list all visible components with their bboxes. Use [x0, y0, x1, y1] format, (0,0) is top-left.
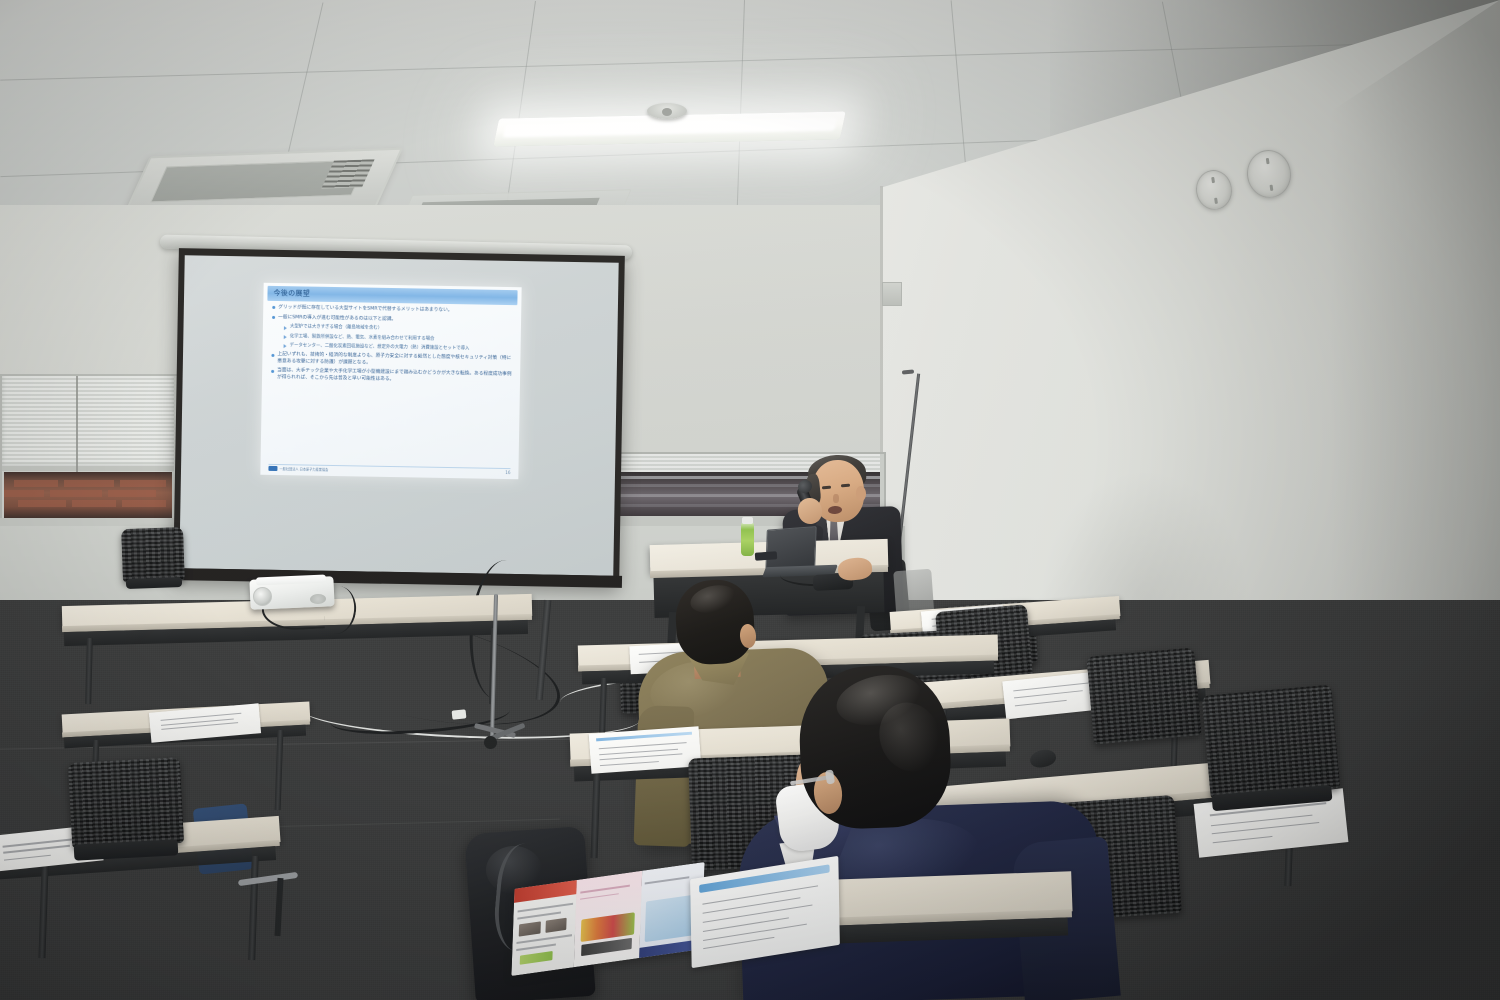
presenter-eye — [822, 486, 831, 490]
handout-document[interactable] — [589, 726, 702, 774]
left-window-blinds[interactable] — [2, 376, 174, 468]
slide-page-number: 16 — [505, 470, 510, 475]
slide-footer: 一般社団法人 日本原子力産業協会 16 — [268, 463, 510, 475]
projected-slide: 今後の展望 グリッドが既に存在している大型サイトをSMRで代替するメリットはあま… — [260, 283, 521, 479]
bullet-marker-icon — [271, 370, 274, 373]
slide-bullet: 当面は、大手テック企業や大手化学工場が小型機建設にまで踏み込むかどうかが大きな転… — [271, 368, 513, 385]
smoke-detector-sensor — [662, 108, 672, 116]
arrow-marker-icon — [284, 344, 287, 348]
bottle-cap[interactable] — [742, 517, 753, 524]
brochure-panel-center — [574, 871, 642, 967]
wall-junction-box — [882, 282, 902, 306]
slide-bullet: 化学工場、製鉄所併設など、熱、電気、水素を組み合わせて利用する場合 — [272, 334, 514, 344]
slide-bullet: グリッドが既に存在している大型サイトをSMRで代替するメリットはあまりない。 — [272, 305, 514, 316]
chair[interactable] — [1086, 647, 1201, 744]
chair[interactable] — [1202, 685, 1341, 800]
slide-footer-logo: 一般社団法人 日本原子力産業協会 — [268, 466, 328, 472]
left-window-blind-cord[interactable] — [76, 376, 78, 472]
slide-bullet: 大型炉では大きすぎる場合（離島地域を含む） — [272, 324, 514, 334]
chair[interactable] — [68, 757, 184, 849]
presenter-nose — [833, 494, 839, 503]
microphone-stand-caster — [484, 736, 497, 749]
slide-title: 今後の展望 — [273, 287, 310, 298]
chair[interactable] — [121, 527, 185, 583]
bullet-marker-icon — [272, 306, 275, 309]
chair-seat[interactable] — [126, 577, 182, 589]
seminar-room-photo: 今後の展望 グリッドが既に存在している大型サイトをSMRで代替するメリットはあま… — [0, 0, 1500, 1000]
left-window-glass — [4, 472, 172, 518]
slide-bullet: データセンター、二酸化炭素回収施設など、想定外の大電力（熱）消費施設とセットで導… — [272, 343, 514, 353]
bullet-marker-icon — [271, 353, 274, 356]
bullet-marker-icon — [272, 316, 275, 319]
cable-plug — [452, 709, 467, 719]
arrow-marker-icon — [284, 335, 287, 339]
presenter-eye — [841, 484, 850, 488]
left-window-blind-rail[interactable] — [2, 466, 174, 471]
brochure-panel-left — [511, 880, 577, 976]
left-window-sill — [0, 518, 176, 526]
arrow-marker-icon — [284, 326, 287, 330]
slide-body: グリッドが既に存在している大型サイトをSMRで代替するメリットはあまりない。 一… — [271, 305, 514, 389]
brochure-photo-strip — [580, 912, 635, 942]
organization-logo-icon — [268, 466, 277, 471]
smartphone[interactable] — [755, 551, 778, 561]
slide-bullet: 上記いずれも、技術的・経済的な制度よりも、原子力安全に対する毅然とした態度や核セ… — [271, 352, 513, 369]
green-tea-bottle[interactable] — [741, 522, 754, 556]
